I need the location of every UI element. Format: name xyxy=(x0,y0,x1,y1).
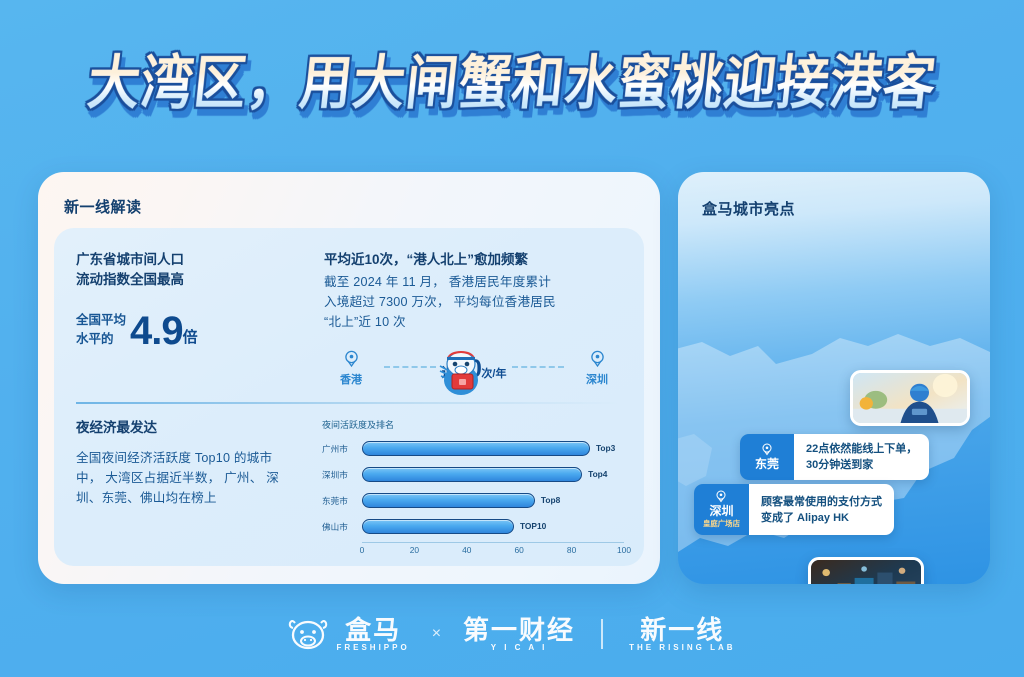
highlight-card-dongguan[interactable]: 东莞 22点依然能线上下单， 30分钟送到家 xyxy=(740,434,929,480)
yicai-en: Y I C A I xyxy=(491,643,548,652)
freshippo-en: FRESHIPPO xyxy=(336,643,409,652)
chart-bar-label: 东莞市 xyxy=(322,495,362,507)
route-destination-label: 深圳 xyxy=(586,374,608,386)
route-dash-left xyxy=(384,366,436,368)
cross-separator: × xyxy=(432,625,441,643)
right-highlights-card: 盒马城市亮点 xyxy=(678,172,990,584)
chart-x-tick: 100 xyxy=(617,545,631,555)
chart-bar-annotation: Top8 xyxy=(541,495,560,505)
highlight-city-shenzhen: 深圳 皇庭广场店 xyxy=(694,484,749,535)
chart-bar-annotation: TOP10 xyxy=(520,521,546,531)
top-row: 广东省城市间人口 流动指数全国最高 全国平均 水平的 4.9 倍 平均近10次，… xyxy=(76,250,624,400)
night-economy-line2: 中， 大湾区占据近半数， 广州、 深 xyxy=(76,468,306,488)
brand-yicai: 第⼀财经 Y I C A I xyxy=(463,617,575,652)
highlight-city-name: 东莞 xyxy=(755,457,779,472)
highlight-text-dongguan: 22点依然能线上下单， 30分钟送到家 xyxy=(794,434,929,480)
night-economy-line3: 圳、东莞、佛山均在榜上 xyxy=(76,488,306,508)
route-origin: 香港 xyxy=(324,350,378,388)
highlight-store-name: 皇庭广场店 xyxy=(703,519,740,529)
chart-bar-label: 深圳市 xyxy=(322,469,362,481)
delivery-rider-photo xyxy=(850,370,970,426)
mobility-block: 广东省城市间人口 流动指数全国最高 全国平均 水平的 4.9 倍 xyxy=(76,250,306,400)
chart-bar-row: 广州市Top3 xyxy=(322,438,624,459)
chart-title: 夜间活跃度及排名 xyxy=(322,418,624,431)
mobility-title-line1: 广东省城市间人口 xyxy=(76,250,306,270)
brand-freshippo: 盒马 FRESHIPPO xyxy=(288,617,409,652)
night-economy-title: 夜经济最发达 xyxy=(76,418,306,438)
chart-x-tick: 40 xyxy=(462,545,471,555)
crossborder-body-line1: 截至 2024 年 11 月， 香港居民年度累计 xyxy=(324,272,624,292)
crossborder-body-line2: 入境超过 7300 万次， 平均每位香港居民 xyxy=(324,292,624,312)
mobility-title-line2: 流动指数全国最高 xyxy=(76,270,306,290)
route-dash-right xyxy=(512,366,564,368)
chart-x-tick: 60 xyxy=(515,545,524,555)
crossborder-block: 平均近10次，“港人北上”愈加频繁 截至 2024 年 11 月， 香港居民年度… xyxy=(324,250,624,400)
hippo-logo-icon xyxy=(288,618,328,650)
highlight-text-shenzhen: 顾客最常使用的支付方式 变成了 Alipay HK xyxy=(749,484,894,535)
chart-bar-label: 佛山市 xyxy=(322,521,362,533)
store-night-market-photo xyxy=(808,557,924,584)
chart-bar-track: TOP10 xyxy=(362,519,624,534)
page-title: 大湾区，用大闸蟹和水蜜桃迎接港客 xyxy=(84,48,940,120)
chart-x-tick: 20 xyxy=(410,545,419,555)
mobility-stat: 全国平均 水平的 4.9 倍 xyxy=(76,312,306,350)
route-origin-label: 香港 xyxy=(340,374,362,386)
chart-bar-label: 广州市 xyxy=(322,443,362,455)
footer-divider xyxy=(601,619,603,649)
title-banner: 大湾区，用大闸蟹和水蜜桃迎接港客 xyxy=(0,52,1024,122)
chart-bar-annotation: Top3 xyxy=(596,443,615,453)
bottom-row: 夜经济最发达 全国夜间经济活跃度 Top10 的城市 中， 大湾区占据近半数， … xyxy=(76,418,624,556)
left-analysis-card: 新一线解读 广东省城市间人口 流动指数全国最高 全国平均 水平的 4.9 倍 平… xyxy=(38,172,660,584)
mobility-prefix-line2: 水平的 xyxy=(76,331,126,350)
footer-logos: 盒马 FRESHIPPO × 第⼀财经 Y I C A I 新⼀线 THE RI… xyxy=(0,606,1024,662)
mobility-stat-prefix: 全国平均 水平的 xyxy=(76,312,126,350)
freshippo-mascot-icon xyxy=(434,340,490,398)
chart-bar-annotation: Top4 xyxy=(588,469,607,479)
map-pin-icon xyxy=(324,350,378,370)
map-pin-icon xyxy=(715,490,727,503)
chart-bar-fill xyxy=(362,493,535,508)
route-diagram: 香港 近 xyxy=(324,338,624,400)
highlight-line2: 30分钟送到家 xyxy=(806,457,917,473)
highlight-line2: 变成了 Alipay HK xyxy=(761,510,882,526)
mobility-stat-unit: 倍 xyxy=(183,326,198,350)
rising-lab-cn: 新⼀线 xyxy=(640,617,724,643)
crossborder-body: 截至 2024 年 11 月， 香港居民年度累计 入境超过 7300 万次， 平… xyxy=(324,272,624,332)
night-economy-block: 夜经济最发达 全国夜间经济活跃度 Top10 的城市 中， 大湾区占据近半数， … xyxy=(76,418,306,556)
chart-bar-fill xyxy=(362,467,582,482)
chart-bar-row: 佛山市TOP10 xyxy=(322,516,624,537)
map-pin-icon xyxy=(761,443,773,456)
freshippo-wordmark: 盒马 FRESHIPPO xyxy=(336,617,409,652)
night-activity-chart: 夜间活跃度及排名 广州市Top3深圳市Top4东莞市Top8佛山市TOP10 0… xyxy=(322,418,624,556)
chart-bar-track: Top8 xyxy=(362,493,624,508)
brand-rising-lab: 新⼀线 THE RISING LAB xyxy=(629,617,735,652)
freshippo-cn: 盒马 xyxy=(345,617,401,643)
highlight-card-shenzhen[interactable]: 深圳 皇庭广场店 顾客最常使用的支付方式 变成了 Alipay HK xyxy=(694,484,894,535)
highlight-line1: 顾客最常使用的支付方式 xyxy=(761,494,882,510)
chart-bar-fill xyxy=(362,441,590,456)
map-pin-icon xyxy=(570,350,624,370)
highlight-city-name: 深圳 xyxy=(709,504,733,519)
chart-x-tick: 80 xyxy=(567,545,576,555)
route-destination: 深圳 xyxy=(570,350,624,388)
mobility-stat-value: 4.9 xyxy=(130,312,183,350)
crossborder-body-line3: “北上”近 10 次 xyxy=(324,312,624,332)
highlight-city-dongguan: 东莞 xyxy=(740,434,794,480)
highlight-line1: 22点依然能线上下单， xyxy=(806,441,917,457)
chart-bar-fill xyxy=(362,519,514,534)
chart-bars: 广州市Top3深圳市Top4东莞市Top8佛山市TOP10 xyxy=(322,438,624,537)
chart-bar-row: 东莞市Top8 xyxy=(322,490,624,511)
chart-bar-track: Top4 xyxy=(362,467,624,482)
chart-bar-track: Top3 xyxy=(362,441,624,456)
chart-x-tick: 0 xyxy=(360,545,365,555)
yicai-cn: 第⼀财经 xyxy=(463,617,575,643)
night-economy-body: 全国夜间经济活跃度 Top10 的城市 中， 大湾区占据近半数， 广州、 深 圳… xyxy=(76,448,306,508)
section-divider xyxy=(76,402,624,404)
mobility-prefix-line1: 全国平均 xyxy=(76,312,126,331)
left-inner-panel: 广东省城市间人口 流动指数全国最高 全国平均 水平的 4.9 倍 平均近10次，… xyxy=(54,228,644,566)
right-card-header: 盒马城市亮点 xyxy=(702,198,795,219)
night-economy-line1: 全国夜间经济活跃度 Top10 的城市 xyxy=(76,448,306,468)
chart-x-axis: 020406080100 xyxy=(362,542,624,556)
crossborder-title: 平均近10次，“港人北上”愈加频繁 xyxy=(324,250,624,270)
chart-bar-row: 深圳市Top4 xyxy=(322,464,624,485)
left-card-header: 新一线解读 xyxy=(64,196,638,217)
rising-lab-en: THE RISING LAB xyxy=(629,643,735,652)
